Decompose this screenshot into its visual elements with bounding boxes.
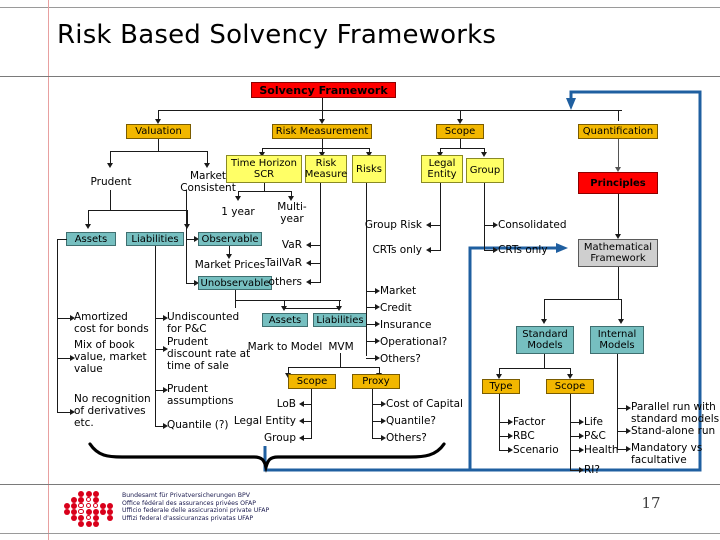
- bullet-grp-1: Consolidated: [498, 219, 566, 231]
- connector-le-b1: [430, 225, 441, 226]
- logo-dot: [86, 515, 91, 520]
- connector-risks-stem: [366, 183, 367, 356]
- slide-canvas: Risk Based Solvency Frameworks 17 Solven…: [0, 0, 720, 540]
- box-risks[interactable]: Risks: [352, 155, 386, 183]
- connector-sm-stem: [544, 354, 545, 368]
- bottom-rule: [0, 533, 720, 534]
- connector-grp-stem: [484, 183, 485, 250]
- connector-val-bus: [110, 151, 208, 152]
- connector-val-stem: [158, 139, 159, 151]
- connector-q-std: [544, 299, 545, 321]
- connector-root-stem: [322, 98, 323, 110]
- bullet-scopem-4: RI?: [584, 464, 600, 476]
- connector-q-int: [621, 299, 622, 321]
- bullet-risk-4: Operational?: [380, 336, 447, 348]
- bullet-scopem-3: Health: [584, 444, 618, 456]
- arrow-others-rmeas: [306, 279, 311, 285]
- box-solvency-framework[interactable]: Solvency Framework: [251, 82, 396, 98]
- arrow-internal-models: [618, 319, 624, 324]
- arrow-market-consistent: [204, 163, 210, 168]
- connector-unobs-link: [235, 300, 341, 301]
- bullet-var: VaR: [262, 239, 302, 251]
- bpv-logo-mark: [64, 491, 118, 527]
- bullet-assets-2: Mix of book value, market value: [74, 339, 147, 375]
- bullet-type-2: RBC: [513, 430, 535, 442]
- arrow-liab-unobs: [336, 306, 342, 311]
- title-rule: [0, 76, 720, 77]
- box-assets-prudent[interactable]: Assets: [66, 232, 116, 246]
- connector-assets-in: [57, 239, 67, 240]
- connector-q-bus: [544, 299, 622, 300]
- bullet-scopemvm-2: Legal Entity: [232, 415, 296, 427]
- footer-rule: [0, 484, 720, 485]
- bullet-risk-2: Credit: [380, 302, 412, 314]
- connector-q-principles: [618, 139, 619, 169]
- logo-dot: [78, 509, 83, 514]
- logo-line-3: Uffizi federal d'assicuranzas privatas U…: [122, 515, 269, 523]
- connector-q-stem: [618, 267, 619, 299]
- connector-unobs-stem: [235, 290, 236, 308]
- connector-rmeas-stem: [320, 183, 321, 282]
- bullet-grp-2: CRTs only: [498, 244, 548, 256]
- connector-liab-stem: [155, 246, 156, 427]
- box-observable[interactable]: Observable: [198, 232, 262, 246]
- box-assets-unobservable[interactable]: Assets: [262, 313, 308, 327]
- arrow-assets-unobs: [281, 306, 287, 311]
- logo-line-1: Office fédéral des assurances privées OF…: [122, 500, 269, 508]
- box-liabilities-prudent[interactable]: Liabilities: [126, 232, 184, 246]
- bullet-proxy-3: Others?: [386, 432, 427, 444]
- bullet-im-2: Stand-alone run: [631, 425, 715, 437]
- connector-unobs-bus: [284, 308, 340, 309]
- bullet-liab-4: Quantile (?): [167, 419, 229, 431]
- connector-le-b2: [430, 250, 441, 251]
- box-valuation[interactable]: Valuation: [126, 124, 191, 139]
- label-1-year: 1 year: [214, 206, 262, 218]
- connector-mvm-stem: [340, 353, 341, 367]
- bullet-proxy-2: Quantile?: [386, 415, 436, 427]
- bullet-le-2: CRTs only: [360, 244, 422, 256]
- bullet-risk-3: Insurance: [380, 319, 432, 331]
- bullet-scopem-1: Life: [584, 416, 603, 428]
- arrow-tailvar: [306, 260, 311, 266]
- arrow-lob: [299, 401, 304, 407]
- bullet-risk-5: Others?: [380, 353, 421, 365]
- arrow-group-risk: [426, 222, 431, 228]
- bullet-scopemvm-1: LoB: [272, 398, 296, 410]
- connector-sc-stem: [460, 139, 461, 148]
- arrow-prudent: [107, 163, 113, 168]
- page-number: 17: [636, 494, 666, 512]
- arrow-group-mvm: [299, 435, 304, 441]
- connector-th-bus: [238, 191, 292, 192]
- connector-th-stem: [264, 183, 265, 191]
- connector-prudent-bus: [88, 210, 188, 211]
- connector-rm-stem: [322, 139, 323, 148]
- top-rule: [0, 7, 720, 8]
- bullet-le-1: Group Risk: [360, 219, 422, 231]
- logo-dot: [86, 503, 91, 508]
- connector-mvm-bus: [288, 367, 380, 368]
- box-proxy[interactable]: Proxy: [352, 374, 400, 389]
- bullet-liab-1: Undiscounted for P&C: [167, 311, 239, 335]
- connector-assets-b3: [57, 412, 71, 413]
- box-legal-entity[interactable]: Legal Entity: [421, 155, 463, 183]
- summary-brace: [88, 440, 448, 470]
- connector-le-stem: [440, 183, 441, 250]
- connector-sc-bus: [440, 148, 485, 149]
- box-scope-models[interactable]: Scope: [546, 379, 594, 394]
- connector-prudent-stem: [110, 190, 111, 210]
- logo-dot: [86, 521, 92, 527]
- arrow-standard-models: [541, 319, 547, 324]
- arrow-var: [306, 242, 311, 248]
- logo-dot: [93, 521, 99, 527]
- box-liabilities-unobservable[interactable]: Liabilities: [313, 313, 367, 327]
- logo-dot: [71, 515, 77, 521]
- bullet-proxy-1: Cost of Capital: [386, 398, 463, 410]
- arrow-assets: [85, 224, 91, 229]
- box-standard-models[interactable]: Standard Models: [516, 326, 574, 354]
- connector-rm-bus: [262, 148, 370, 149]
- box-principles[interactable]: Principles: [578, 172, 658, 194]
- bullet-im-1: Parallel run with standard models: [631, 401, 719, 425]
- connector-scopemvm-stem: [311, 389, 312, 438]
- box-mathematical-framework[interactable]: Mathematical Framework: [578, 239, 658, 267]
- bullet-others-rmeas: others: [258, 276, 302, 288]
- arrow-crts-only-le: [426, 247, 431, 253]
- label-multi-year: Multi- year: [268, 201, 316, 225]
- connector-im-stem: [617, 354, 618, 449]
- bullet-risk-1: Market: [380, 285, 416, 297]
- connector-sm-bus: [499, 368, 571, 369]
- logo-line-2: Ufficio federale delle assicurazioni pri…: [122, 507, 269, 515]
- box-scope-mvm[interactable]: Scope: [288, 374, 336, 389]
- connector-rmeas-b2: [310, 263, 321, 264]
- box-risk-measurement[interactable]: Risk Measurement: [272, 124, 372, 139]
- bullet-assets-3: No recognition of derivatives etc.: [74, 393, 151, 429]
- connector-quant-drop: [618, 110, 619, 121]
- connector-q-math: [618, 194, 619, 236]
- bullet-type-3: Scenario: [513, 444, 559, 456]
- page-title: Risk Based Solvency Frameworks: [57, 20, 496, 50]
- box-time-horizon-scr[interactable]: Time Horizon SCR: [226, 155, 302, 183]
- logo-dot: [100, 509, 106, 515]
- connector-rmeas-b1: [310, 245, 321, 246]
- connector-proxy-stem: [372, 389, 373, 438]
- label-mvm: MVM: [325, 341, 357, 353]
- bullet-assets-1: Amortized cost for bonds: [74, 311, 149, 335]
- connector-assets-b2: [57, 358, 71, 359]
- logo-dot: [78, 503, 83, 508]
- arrow-1-year: [235, 196, 241, 201]
- logo-dot: [93, 503, 98, 508]
- bullet-tailvar: TailVaR: [258, 257, 302, 269]
- logo-line-0: Bundesamt für Privatversicherungen BPV: [122, 492, 269, 500]
- box-scope[interactable]: Scope: [436, 124, 484, 139]
- logo-dot: [78, 521, 84, 527]
- bullet-liab-3: Prudent assumptions: [167, 383, 234, 407]
- box-group[interactable]: Group: [466, 158, 504, 183]
- connector-scopem-stem: [570, 394, 571, 470]
- logo-dot: [64, 509, 70, 515]
- box-internal-models[interactable]: Internal Models: [590, 326, 644, 354]
- box-quantification[interactable]: Quantification: [578, 124, 658, 139]
- connector-assets-left-stem: [57, 239, 58, 412]
- logo-dot: [86, 497, 91, 502]
- box-type[interactable]: Type: [482, 379, 520, 394]
- bullet-liab-2: Prudent discount rate at time of sale: [167, 336, 250, 372]
- bullet-im-3: Mandatory vs facultative: [631, 442, 702, 466]
- label-prudent: Prudent: [80, 176, 142, 188]
- arrow-legal-entity-mvm: [299, 418, 304, 424]
- label-mark-to-model: Mark to Model: [246, 341, 324, 353]
- logo-dot: [107, 515, 113, 521]
- connector-rmeas-b3: [310, 282, 321, 283]
- bullet-scopemvm-3: Group: [256, 432, 296, 444]
- connector-assets-b1: [57, 318, 71, 319]
- bpv-logo-text: Bundesamt für Privatversicherungen BPVOf…: [122, 492, 269, 522]
- bullet-scopem-2: P&C: [584, 430, 606, 442]
- connector-root-bus: [158, 110, 622, 111]
- arrow-group: [481, 152, 487, 157]
- bullet-type-1: Factor: [513, 416, 545, 428]
- box-risk-measure[interactable]: Risk Measure: [305, 155, 347, 183]
